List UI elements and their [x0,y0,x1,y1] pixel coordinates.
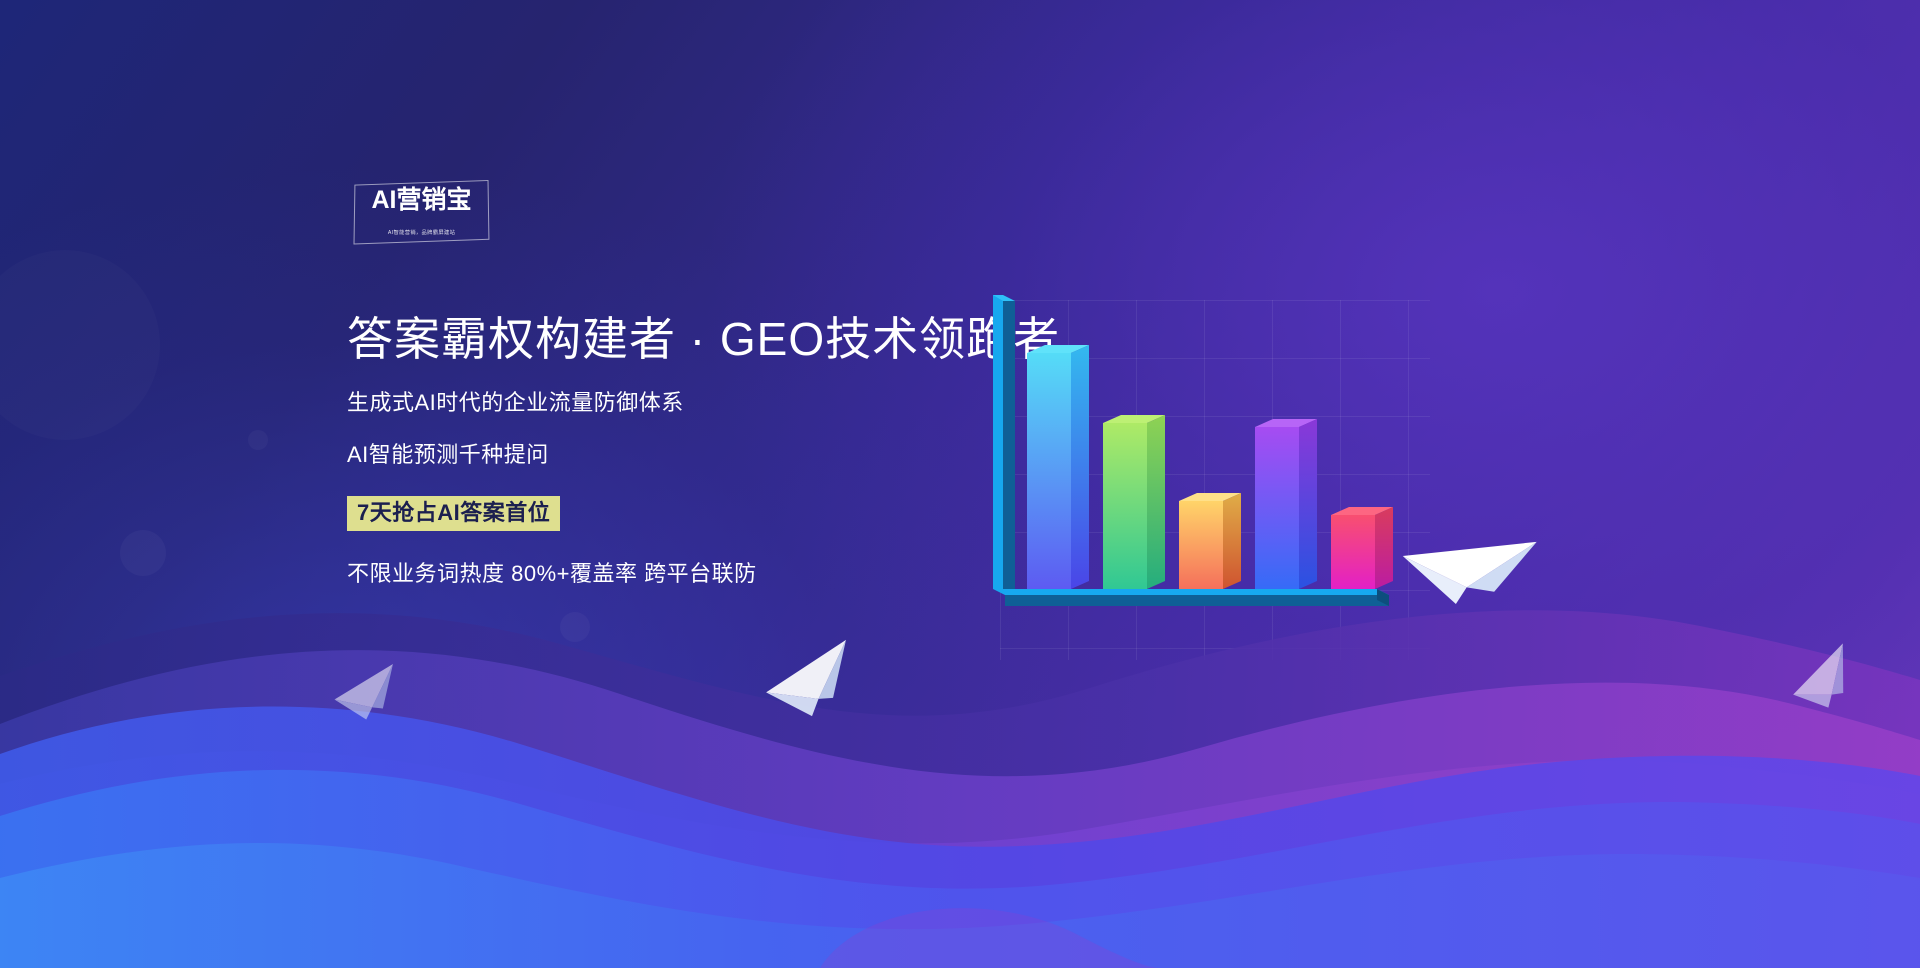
highlight-badge: 7天抢占AI答案首位 [347,496,560,531]
logo-tagline-text: AI智能营销，品牌霸屏建站 [357,228,485,236]
copy-block: 答案霸权构建者 · GEO技术领跑者 生成式AI时代的企业流量防御体系 AI智能… [347,312,1047,585]
wave-decoration [0,548,1920,968]
hero-banner: AI营销宝 AI智能营销，品牌霸屏建站 答案霸权构建者 · GEO技术领跑者 生… [0,0,1920,968]
deco-circle-far-left [0,250,160,440]
subtitle-line-1: 生成式AI时代的企业流量防御体系 [347,392,1047,414]
subtitle-line-2: AI智能预测千种提问 [347,444,1047,466]
deco-circle-upper [248,430,268,450]
logo[interactable]: AI营销宝 AI智能营销，品牌霸屏建站 [354,182,489,242]
logo-brand-text: AI营销宝 [354,188,489,213]
page-title: 答案霸权构建者 · GEO技术领跑者 [347,312,1047,366]
highlight-row: 7天抢占AI答案首位 [347,496,1047,531]
